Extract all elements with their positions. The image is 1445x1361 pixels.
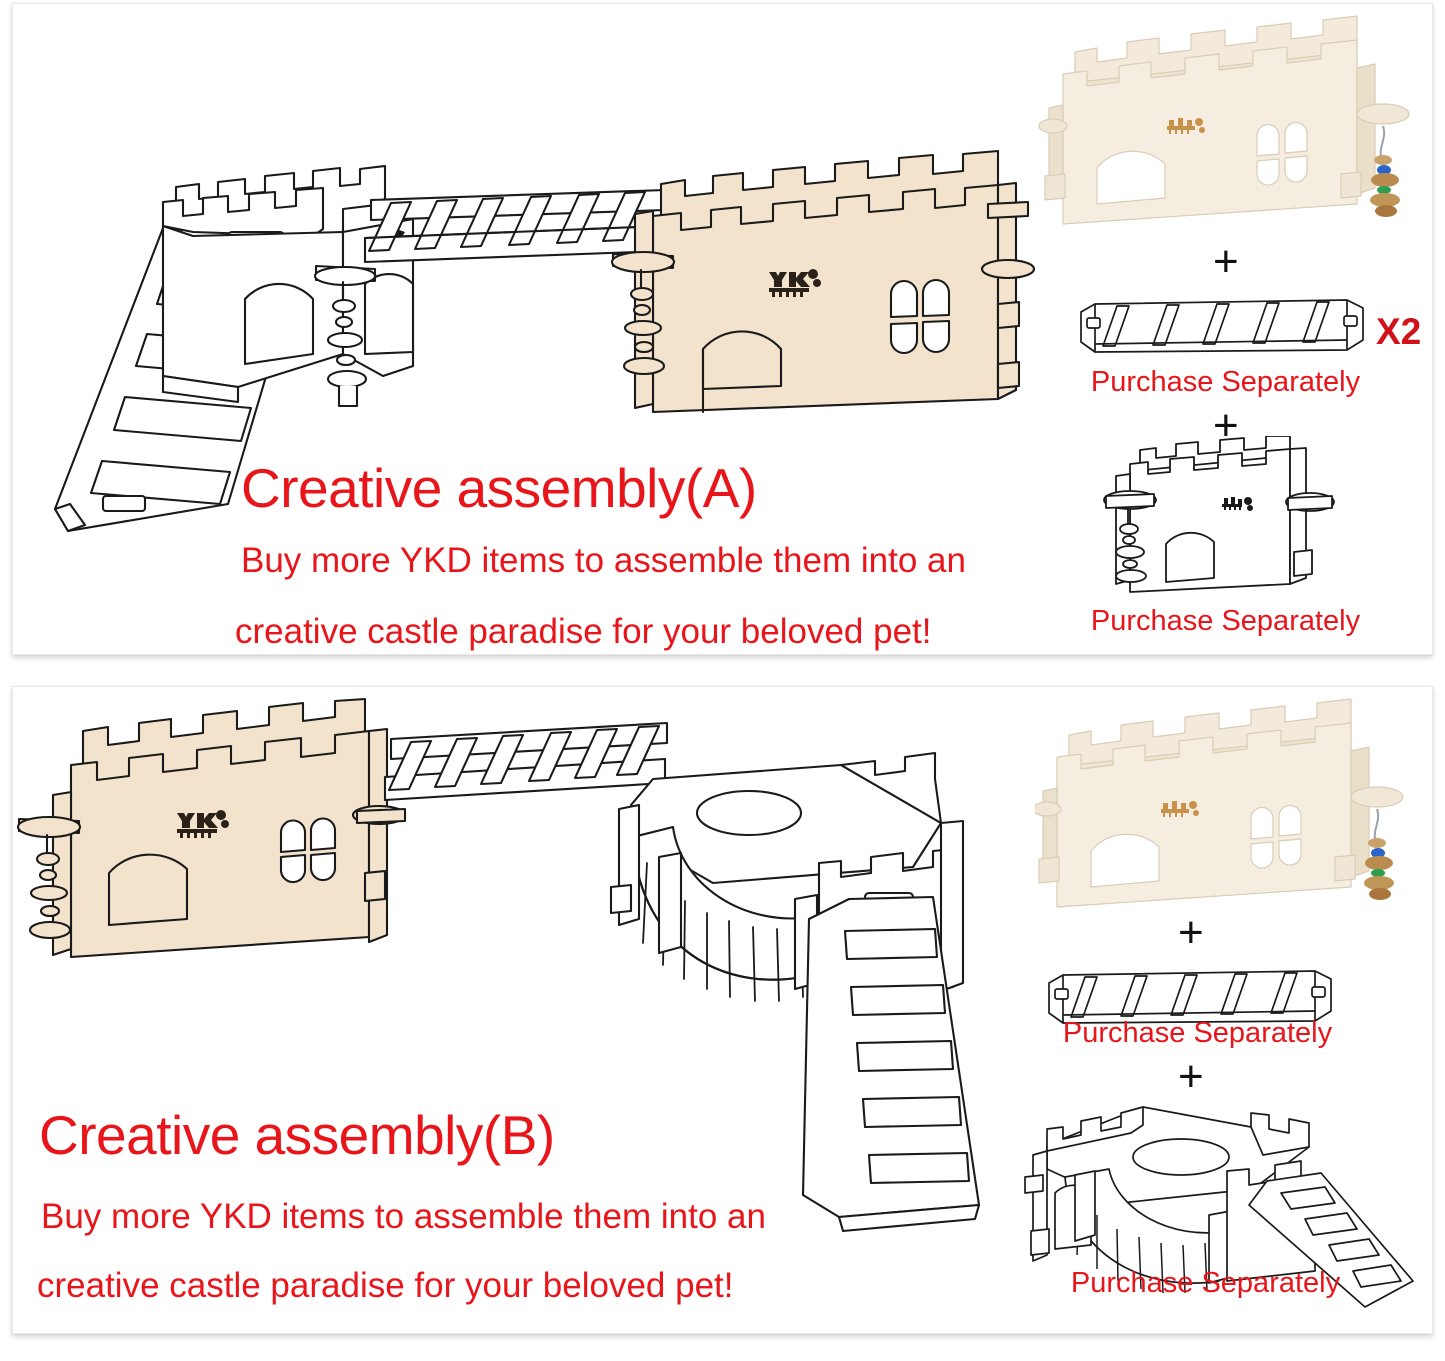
infographic-root: + X2 Purchase Separatel xyxy=(0,0,1445,1361)
body-line-b-2: creative castle paradise for your belove… xyxy=(37,1266,734,1306)
plus-icon-b-1: + xyxy=(1178,911,1204,955)
body-line-a-1: Buy more YKD items to assemble them into… xyxy=(241,541,966,581)
assembly-panel-a: + X2 Purchase Separatel xyxy=(12,3,1433,655)
purchase-separately-label-b-2: Purchase Separately xyxy=(1033,1267,1378,1300)
plus-icon-a-1: + xyxy=(1213,240,1239,284)
hero-product-photo-a xyxy=(1035,8,1433,238)
addon-ladder-a-svg xyxy=(1075,294,1375,364)
addon-ladder-a xyxy=(1075,294,1375,364)
assembly-panel-b: + Purchase Separately xyxy=(12,686,1433,1334)
hero-product-photo-b xyxy=(1035,695,1433,920)
body-line-a-2: creative castle paradise for your belove… xyxy=(235,612,932,652)
addon-small-castle-a xyxy=(1098,436,1348,608)
body-line-b-1: Buy more YKD items to assemble them into… xyxy=(41,1197,766,1237)
headline-b: Creative assembly(B) xyxy=(39,1103,555,1167)
large-castle-wall-right xyxy=(612,151,1034,412)
scene-illustration-b xyxy=(13,687,1033,1272)
purchase-separately-label-a-2: Purchase Separately xyxy=(1053,605,1398,638)
hero-photo-a-svg xyxy=(1035,8,1433,238)
headline-a: Creative assembly(A) xyxy=(241,456,757,520)
hero-photo-b-svg xyxy=(1035,695,1433,920)
plank-bridge-b xyxy=(385,723,667,800)
purchase-separately-label-b-1: Purchase Separately xyxy=(1025,1017,1370,1050)
addon-small-castle-a-svg xyxy=(1098,436,1348,608)
quantity-badge-a: X2 xyxy=(1376,311,1421,353)
purchase-separately-label-a-1: Purchase Separately xyxy=(1053,366,1398,399)
scene-b-svg xyxy=(13,687,1033,1267)
